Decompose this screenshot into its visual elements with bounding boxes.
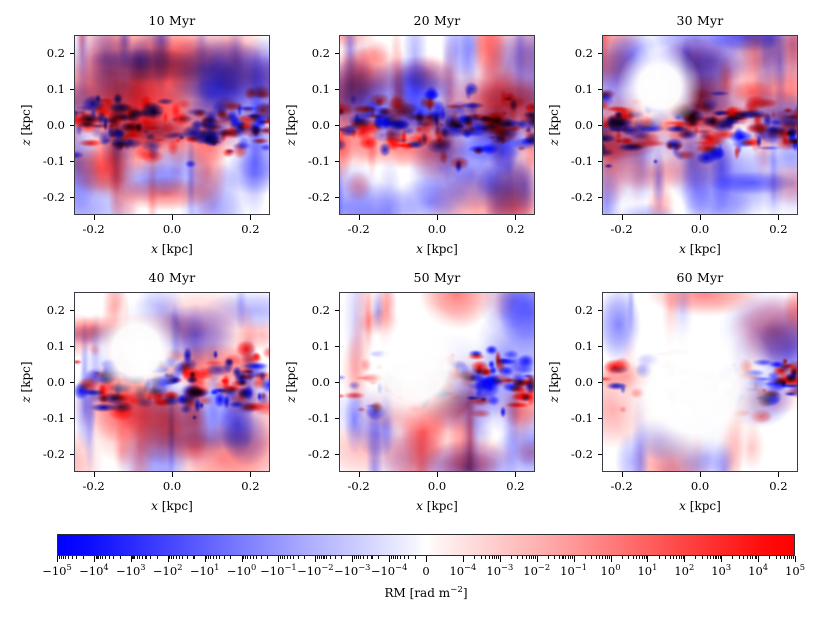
colorbar-minor-tick — [210, 556, 211, 559]
rm-structure-blob — [473, 147, 484, 155]
colorbar-minor-tick — [287, 556, 288, 559]
colorbar-tick — [94, 556, 95, 562]
rm-filament — [434, 96, 456, 184]
x-tick — [622, 472, 623, 477]
x-axis-label: x [kpc] — [339, 499, 535, 513]
x-tick-label: 0.2 — [769, 222, 787, 236]
x-tick-label: 0.0 — [691, 479, 709, 493]
colorbar-minor-tick — [219, 556, 220, 559]
rm-filament — [513, 35, 528, 107]
rm-filament — [186, 115, 195, 215]
y-tick-label: -0.2 — [308, 447, 330, 461]
colorbar-minor-tick — [371, 556, 372, 559]
x-tick-label: 0.2 — [506, 479, 524, 493]
colorbar-minor-tick — [326, 556, 327, 559]
colorbar-minor-tick — [393, 556, 394, 559]
colorbar-minor-tick — [317, 556, 318, 559]
colorbar-tick-label: 10−1 — [560, 564, 587, 578]
y-tick — [335, 382, 340, 383]
colorbar-minor-tick — [511, 556, 512, 559]
y-tick-label: 0.2 — [312, 46, 330, 60]
colorbar-tick — [611, 556, 612, 562]
colorbar-tick-label: 101 — [637, 564, 657, 578]
y-tick-label: 0.1 — [312, 339, 330, 353]
colorbar-minor-tick — [356, 556, 357, 559]
colorbar-minor-tick — [789, 556, 790, 559]
rm-structure-blob — [262, 346, 270, 359]
colorbar-minor-tick — [780, 556, 781, 559]
axes-area — [74, 292, 270, 472]
colorbar-tick-label: 100 — [601, 564, 621, 578]
x-axis-label: x [kpc] — [339, 242, 535, 256]
colorbar-minor-tick — [61, 556, 62, 559]
y-tick-label: -0.2 — [571, 447, 593, 461]
colorbar-tick — [242, 556, 243, 562]
colorbar-minor-tick — [496, 556, 497, 559]
colorbar-minor-tick — [517, 556, 518, 559]
rm-map-image — [602, 292, 798, 472]
rm-structure-blob — [724, 114, 740, 125]
colorbar-minor-tick — [710, 556, 711, 559]
colorbar-minor-tick — [378, 556, 379, 559]
colorbar-minor-tick — [113, 556, 114, 559]
x-axis-label: x [kpc] — [74, 499, 270, 513]
y-axis-label: z [kpc] — [19, 104, 33, 145]
colorbar-minor-tick — [681, 556, 682, 559]
rm-map-image — [339, 292, 535, 472]
colorbar-tick — [684, 556, 685, 562]
colorbar-minor-tick — [494, 556, 495, 559]
rm-filament — [248, 43, 267, 173]
colorbar-tick-label: −103 — [116, 564, 146, 578]
rm-filament — [651, 147, 666, 211]
colorbar-minor-tick — [293, 556, 294, 559]
rm-structure-blob — [375, 98, 384, 107]
x-axis-label: x [kpc] — [602, 499, 798, 513]
y-tick-label: -0.2 — [43, 447, 65, 461]
rm-structure-blob — [487, 395, 500, 405]
colorbar-minor-tick — [570, 556, 571, 559]
y-tick-label: -0.2 — [43, 190, 65, 204]
colorbar-minor-tick — [739, 556, 740, 559]
rm-filament — [717, 56, 734, 107]
colorbar-tick — [168, 556, 169, 562]
colorbar-tick-label: 103 — [711, 564, 731, 578]
colorbar-minor-tick — [732, 556, 733, 559]
colorbar-minor-tick — [100, 556, 101, 559]
colorbar-minor-tick — [529, 556, 530, 559]
rm-filament — [184, 302, 205, 386]
colorbar-minor-tick — [65, 556, 66, 559]
rm-map-image — [74, 35, 270, 215]
y-tick — [335, 53, 340, 54]
y-tick-label: -0.1 — [571, 154, 593, 168]
rm-filament — [147, 138, 158, 215]
colorbar-minor-tick — [636, 556, 637, 559]
colorbar-minor-tick — [105, 556, 106, 559]
colorbar-minor-tick — [605, 556, 606, 559]
y-tick-label: 0.2 — [47, 46, 65, 60]
rm-filament — [126, 48, 148, 168]
colorbar-tick — [389, 556, 390, 562]
colorbar-minor-tick — [526, 556, 527, 559]
x-tick-label: 0.2 — [241, 222, 259, 236]
x-tick — [94, 215, 95, 220]
rm-filament — [77, 35, 87, 64]
rm-structure-blob — [479, 367, 493, 378]
y-tick-label: -0.1 — [308, 411, 330, 425]
colorbar-minor-tick — [559, 556, 560, 559]
rm-filament — [402, 35, 428, 134]
colorbar-minor-tick — [59, 556, 60, 559]
colorbar-minor-tick — [670, 556, 671, 559]
rm-structure-blob — [261, 392, 266, 400]
x-tick — [778, 215, 779, 220]
rm-structure-blob — [786, 129, 796, 137]
panel-20-myr: 20 Myr-0.20.00.20.20.10.0-0.1-0.2x [kpc]… — [339, 35, 535, 215]
figure-canvas: 10 Myr-0.20.00.20.20.10.0-0.1-0.2x [kpc]… — [0, 0, 830, 623]
axes-area — [74, 35, 270, 215]
colorbar-minor-tick — [607, 556, 608, 559]
y-tick-label: 0.0 — [312, 375, 330, 389]
colorbar-tick-label: 102 — [674, 564, 694, 578]
colorbar-minor-tick — [102, 556, 103, 559]
rm-filament — [680, 132, 702, 191]
colorbar-minor-tick — [531, 556, 532, 559]
y-tick — [70, 161, 75, 162]
panel-title: 50 Myr — [339, 270, 535, 285]
colorbar-minor-tick — [591, 556, 592, 559]
x-tick — [700, 215, 701, 220]
colorbar-minor-tick — [404, 556, 405, 559]
y-axis-label: z [kpc] — [284, 361, 298, 402]
y-tick — [598, 89, 603, 90]
x-tick-label: -0.2 — [83, 479, 105, 493]
colorbar-minor-tick — [267, 556, 268, 559]
rm-structure-blob — [90, 108, 97, 119]
colorbar-minor-tick — [282, 556, 283, 559]
y-tick — [335, 161, 340, 162]
rm-filament — [234, 302, 259, 426]
colorbar-minor-tick — [169, 556, 170, 559]
axes-area — [602, 35, 798, 215]
rm-filament — [348, 35, 372, 141]
x-tick-label: -0.2 — [83, 222, 105, 236]
y-tick — [70, 310, 75, 311]
colorbar-minor-tick — [489, 556, 490, 559]
colorbar-minor-tick — [213, 556, 214, 559]
colorbar-minor-tick — [319, 556, 320, 559]
colorbar-minor-tick — [695, 556, 696, 559]
y-tick — [598, 310, 603, 311]
rm-structure-blob — [485, 345, 498, 355]
colorbar-tick — [721, 556, 722, 562]
colorbar-minor-tick — [485, 556, 486, 559]
colorbar-minor-tick — [602, 556, 603, 559]
rm-filament — [506, 381, 533, 451]
y-tick — [598, 53, 603, 54]
colorbar-minor-tick — [644, 556, 645, 559]
y-tick — [70, 418, 75, 419]
colorbar-minor-tick — [63, 556, 64, 559]
colorbar-minor-tick — [120, 556, 121, 559]
colorbar-minor-tick — [193, 556, 194, 559]
colorbar-tick — [647, 556, 648, 562]
colorbar-minor-tick — [568, 556, 569, 559]
colorbar-minor-tick — [341, 556, 342, 559]
colorbar-tick-label: 10−3 — [486, 564, 513, 578]
colorbar-minor-tick — [665, 556, 666, 559]
colorbar-minor-tick — [676, 556, 677, 559]
rm-filament — [484, 153, 509, 215]
colorbar-tick-label: 10−4 — [449, 564, 476, 578]
colorbar-tick-label: −10−1 — [260, 564, 296, 578]
rm-structure-blob — [524, 102, 535, 113]
colorbar-tick — [463, 556, 464, 562]
colorbar-label: RM [rad m−2] — [57, 586, 795, 600]
low-rm-cavity — [610, 303, 779, 472]
rm-filament — [376, 155, 403, 215]
y-tick — [598, 382, 603, 383]
x-tick — [700, 472, 701, 477]
y-tick — [335, 454, 340, 455]
colorbar-minor-tick — [145, 556, 146, 559]
colorbar-minor-tick — [206, 556, 207, 559]
y-tick-label: 0.1 — [575, 339, 593, 353]
x-tick-label: 0.2 — [241, 479, 259, 493]
colorbar-tick — [352, 556, 353, 562]
y-tick-label: 0.2 — [575, 46, 593, 60]
colorbar-minor-tick — [335, 556, 336, 559]
y-tick-label: 0.2 — [47, 303, 65, 317]
rm-structure-blob — [99, 395, 108, 403]
colorbar-minor-tick — [304, 556, 305, 559]
colorbar-minor-tick — [321, 556, 322, 559]
colorbar-minor-tick — [354, 556, 355, 559]
colorbar: −105−104−103−102−101−100−10−1−10−2−10−3−… — [57, 534, 795, 556]
rm-filament — [514, 152, 535, 215]
colorbar-minor-tick — [72, 556, 73, 559]
y-tick — [335, 346, 340, 347]
y-tick — [335, 89, 340, 90]
y-axis-label: z [kpc] — [284, 104, 298, 145]
colorbar-minor-tick — [791, 556, 792, 559]
colorbar-tick-label: −101 — [190, 564, 220, 578]
x-tick-label: 0.0 — [163, 479, 181, 493]
colorbar-minor-tick — [628, 556, 629, 559]
colorbar-minor-tick — [83, 556, 84, 559]
y-tick-label: 0.0 — [575, 118, 593, 132]
y-tick-label: -0.2 — [308, 190, 330, 204]
rm-filament — [190, 62, 220, 129]
colorbar-minor-tick — [187, 556, 188, 559]
colorbar-minor-tick — [256, 556, 257, 559]
colorbar-tick-label: 0 — [422, 564, 429, 578]
x-tick-label: -0.2 — [611, 222, 633, 236]
colorbar-minor-tick — [548, 556, 549, 559]
colorbar-minor-tick — [769, 556, 770, 559]
y-axis-label: z [kpc] — [547, 361, 561, 402]
y-tick — [598, 454, 603, 455]
rm-structure-blob — [220, 378, 229, 384]
colorbar-minor-tick — [713, 556, 714, 559]
colorbar-minor-tick — [747, 556, 748, 559]
rm-structure-blob — [462, 128, 472, 138]
colorbar-minor-tick — [585, 556, 586, 559]
colorbar-minor-tick — [562, 556, 563, 559]
colorbar-minor-tick — [408, 556, 409, 559]
panel-title: 30 Myr — [602, 13, 798, 28]
colorbar-minor-tick — [474, 556, 475, 559]
colorbar-minor-tick — [750, 556, 751, 559]
colorbar-minor-tick — [363, 556, 364, 559]
y-tick — [70, 53, 75, 54]
y-tick-label: -0.1 — [43, 411, 65, 425]
colorbar-tick-label: −102 — [153, 564, 183, 578]
y-tick — [70, 382, 75, 383]
colorbar-minor-tick — [139, 556, 140, 559]
colorbar-tick-label: 105 — [785, 564, 805, 578]
colorbar-minor-tick — [743, 556, 744, 559]
colorbar-minor-tick — [97, 556, 98, 559]
colorbar-tick — [758, 556, 759, 562]
rm-structure-blob — [785, 360, 798, 376]
colorbar-minor-tick — [330, 556, 331, 559]
colorbar-minor-tick — [76, 556, 77, 559]
colorbar-minor-tick — [718, 556, 719, 559]
y-tick — [335, 418, 340, 419]
rm-map-image — [602, 35, 798, 215]
y-axis-label: z [kpc] — [547, 104, 561, 145]
x-tick — [172, 472, 173, 477]
y-tick — [598, 346, 603, 347]
colorbar-minor-tick — [395, 556, 396, 559]
rm-filament — [602, 105, 616, 160]
x-tick — [778, 472, 779, 477]
colorbar-tick-label: −105 — [42, 564, 72, 578]
x-tick — [250, 472, 251, 477]
colorbar-tick — [278, 556, 279, 562]
colorbar-minor-tick — [208, 556, 209, 559]
colorbar-minor-tick — [179, 556, 180, 559]
colorbar-minor-tick — [284, 556, 285, 559]
colorbar-minor-tick — [216, 556, 217, 559]
rm-map-image — [339, 35, 535, 215]
panel-60-myr: 60 Myr-0.20.00.20.20.10.0-0.1-0.2x [kpc]… — [602, 292, 798, 472]
colorbar-minor-tick — [642, 556, 643, 559]
y-tick — [70, 89, 75, 90]
colorbar-minor-tick — [109, 556, 110, 559]
y-tick-label: 0.2 — [575, 303, 593, 317]
colorbar-minor-tick — [280, 556, 281, 559]
colorbar-minor-tick — [481, 556, 482, 559]
colorbar-minor-tick — [707, 556, 708, 559]
colorbar-tick — [315, 556, 316, 562]
colorbar-minor-tick — [673, 556, 674, 559]
colorbar-minor-tick — [157, 556, 158, 559]
colorbar-minor-tick — [639, 556, 640, 559]
colorbar-minor-tick — [182, 556, 183, 559]
rm-filament — [111, 69, 122, 210]
x-tick-label: 0.0 — [428, 222, 446, 236]
y-tick-label: 0.1 — [47, 339, 65, 353]
rm-filament — [709, 123, 734, 211]
rm-filament — [764, 151, 784, 215]
colorbar-tick — [131, 556, 132, 562]
colorbar-minor-tick — [247, 556, 248, 559]
axes-area — [339, 35, 535, 215]
colorbar-minor-tick — [142, 556, 143, 559]
colorbar-minor-tick — [633, 556, 634, 559]
panel-10-myr: 10 Myr-0.20.00.20.20.10.0-0.1-0.2x [kpc]… — [74, 35, 270, 215]
colorbar-tick — [426, 556, 427, 562]
rm-filament — [460, 35, 483, 93]
colorbar-minor-tick — [173, 556, 174, 559]
colorbar-tick-label: −100 — [227, 564, 257, 578]
y-tick-label: -0.1 — [308, 154, 330, 168]
x-tick-label: -0.2 — [348, 479, 370, 493]
panel-50-myr: 50 Myr-0.20.00.20.20.10.0-0.1-0.2x [kpc]… — [339, 292, 535, 472]
colorbar-minor-tick — [230, 556, 231, 559]
colorbar-tick — [537, 556, 538, 562]
colorbar-minor-tick — [253, 556, 254, 559]
colorbar-minor-tick — [776, 556, 777, 559]
colorbar-tick-label: −10−4 — [371, 564, 407, 578]
y-tick — [598, 418, 603, 419]
colorbar-minor-tick — [323, 556, 324, 559]
colorbar-minor-tick — [400, 556, 401, 559]
y-tick — [335, 197, 340, 198]
x-tick-label: -0.2 — [611, 479, 633, 493]
panel-title: 20 Myr — [339, 13, 535, 28]
colorbar-minor-tick — [715, 556, 716, 559]
colorbar-minor-tick — [134, 556, 135, 559]
colorbar-minor-tick — [391, 556, 392, 559]
colorbar-minor-tick — [367, 556, 368, 559]
y-tick — [598, 197, 603, 198]
x-tick-label: 0.0 — [428, 479, 446, 493]
rm-filament — [167, 75, 186, 201]
rm-structure-blob — [777, 384, 798, 388]
colorbar-minor-tick — [298, 556, 299, 559]
colorbar-tick-label: 104 — [748, 564, 768, 578]
colorbar-tick-label: 10−2 — [523, 564, 550, 578]
panel-title: 40 Myr — [74, 270, 270, 285]
colorbar-minor-tick — [171, 556, 172, 559]
x-tick-label: 0.2 — [506, 222, 524, 236]
x-tick-label: 0.2 — [769, 479, 787, 493]
y-tick-label: 0.1 — [312, 82, 330, 96]
panel-title: 60 Myr — [602, 270, 798, 285]
y-tick-label: -0.2 — [571, 190, 593, 204]
y-tick-label: 0.1 — [47, 82, 65, 96]
axes-area — [602, 292, 798, 472]
colorbar-minor-tick — [522, 556, 523, 559]
colorbar-tick — [795, 556, 796, 562]
y-tick — [70, 454, 75, 455]
rm-structure-blob — [487, 379, 493, 392]
rm-structure-blob — [417, 137, 423, 144]
y-tick — [598, 125, 603, 126]
colorbar-minor-tick — [755, 556, 756, 559]
colorbar-minor-tick — [224, 556, 225, 559]
y-tick — [598, 161, 603, 162]
colorbar-minor-tick — [533, 556, 534, 559]
colorbar-minor-tick — [784, 556, 785, 559]
x-tick — [622, 215, 623, 220]
colorbar-minor-tick — [250, 556, 251, 559]
x-tick — [515, 215, 516, 220]
